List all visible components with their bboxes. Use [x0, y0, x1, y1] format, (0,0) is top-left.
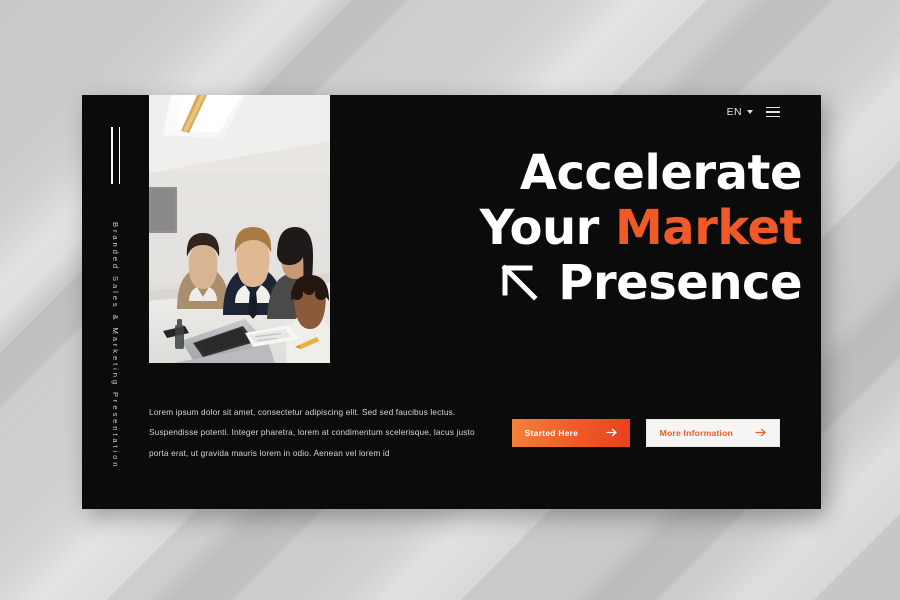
started-here-label: Started Here	[525, 428, 579, 438]
rail-decorative-lines	[111, 127, 120, 184]
headline-line-3: Presence	[558, 260, 802, 307]
cta-actions: Started Here More Information	[512, 419, 780, 447]
presentation-slide: Branded Sales & Marketing Presentation	[82, 95, 821, 509]
more-information-label: More Information	[660, 428, 733, 438]
body-paragraph: Lorem ipsum dolor sit amet, consectetur …	[149, 402, 492, 463]
headline-line-2: Your Market	[382, 205, 802, 252]
left-rail: Branded Sales & Marketing Presentation	[82, 95, 149, 509]
hamburger-menu-icon[interactable]	[766, 107, 780, 118]
chevron-down-icon	[747, 110, 753, 114]
rail-vertical-title: Branded Sales & Marketing Presentation	[111, 222, 120, 469]
hamburger-bar-3	[766, 116, 780, 118]
hero-photo-illustration	[149, 95, 330, 363]
started-here-button[interactable]: Started Here	[512, 419, 630, 447]
top-navigation: EN	[727, 106, 780, 118]
arrow-up-left-icon	[500, 263, 540, 303]
language-selector[interactable]: EN	[727, 106, 753, 118]
hero-photo	[149, 95, 330, 363]
headline-line-1: Accelerate	[382, 150, 802, 197]
headline-line-2-accent: Market	[615, 200, 802, 256]
more-information-button[interactable]: More Information	[646, 419, 780, 447]
bottom-row: Lorem ipsum dolor sit amet, consectetur …	[149, 402, 780, 463]
headline-block: Accelerate Your Market Presence	[382, 150, 802, 307]
language-label: EN	[727, 106, 742, 118]
hamburger-bar-2	[766, 111, 780, 113]
rail-line-2	[119, 127, 121, 184]
headline-line-2-plain: Your	[480, 200, 615, 256]
rail-line-1	[111, 127, 113, 184]
arrow-right-icon	[606, 427, 617, 438]
arrow-right-icon	[755, 427, 766, 438]
headline-line-3-wrap: Presence	[382, 260, 802, 307]
hamburger-bar-1	[766, 107, 780, 109]
